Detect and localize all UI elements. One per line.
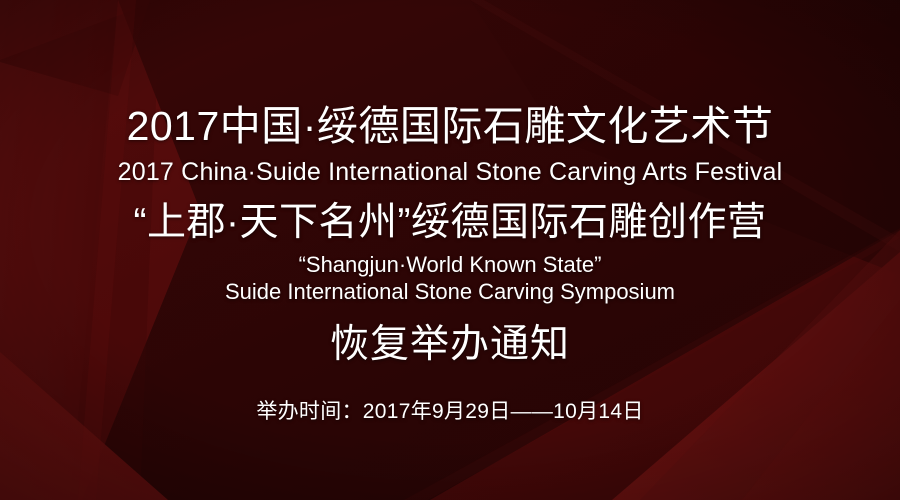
subtitle-chinese: “上郡·天下名州”绥德国际石雕创作营 (0, 203, 900, 242)
event-date-line: 举办时间：2017年9月29日——10月14日 (0, 401, 900, 422)
subtitle-english-line1: “Shangjun·World Known State” (0, 254, 900, 276)
poster-canvas: 2017中国·绥德国际石雕文化艺术节 2017 China·Suide Inte… (0, 0, 900, 500)
headline-english: 2017 China·Suide International Stone Car… (0, 160, 900, 185)
poster-text-block: 2017中国·绥德国际石雕文化艺术节 2017 China·Suide Inte… (0, 0, 900, 500)
headline-chinese: 2017中国·绥德国际石雕文化艺术节 (0, 106, 900, 147)
notice-heading: 恢复举办通知 (0, 325, 900, 364)
subtitle-english-line2: Suide International Stone Carving Sympos… (0, 281, 900, 303)
